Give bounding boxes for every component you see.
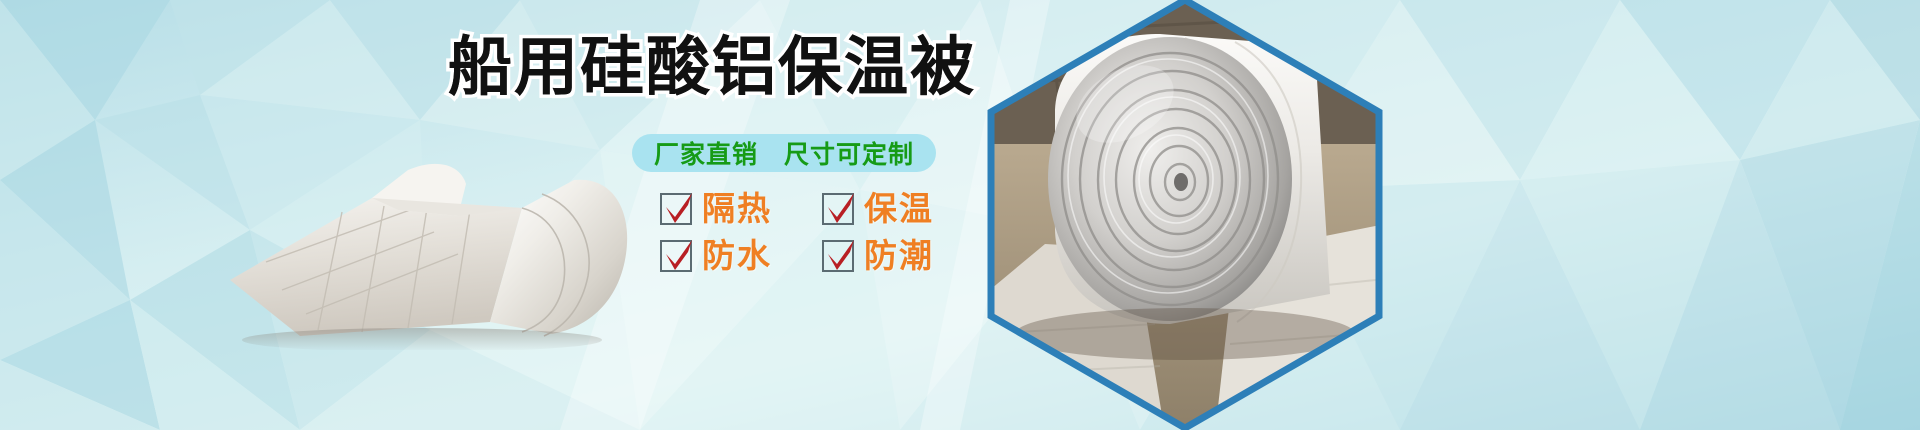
feature-label-3: 防潮: [864, 239, 934, 272]
feature-item-2: 防水: [660, 239, 812, 272]
checkmark-icon: [660, 240, 692, 272]
left-product-photo: [222, 150, 642, 350]
feature-list: 隔热 保温 防水 防潮: [660, 192, 974, 272]
selling-point-pill: 厂家直销 尺寸可定制: [632, 134, 936, 172]
feature-label-2: 防水: [702, 239, 772, 272]
checkmark-icon: [660, 193, 692, 225]
banner-title: 船用硅酸铝保温被: [448, 36, 976, 100]
checkmark-icon: [822, 193, 854, 225]
feature-item-1: 保温: [822, 192, 974, 225]
selling-point-pill-label: 厂家直销 尺寸可定制: [654, 135, 914, 171]
feature-label-0: 隔热: [702, 192, 772, 225]
right-product-photo: [985, 0, 1385, 430]
feature-item-3: 防潮: [822, 239, 974, 272]
feature-item-0: 隔热: [660, 192, 812, 225]
feature-label-1: 保温: [864, 192, 934, 225]
checkmark-icon: [822, 240, 854, 272]
product-banner: 船用硅酸铝保温被 船用硅酸铝保温被 厂家直销 尺寸可定制 隔热 保温: [0, 0, 1920, 430]
